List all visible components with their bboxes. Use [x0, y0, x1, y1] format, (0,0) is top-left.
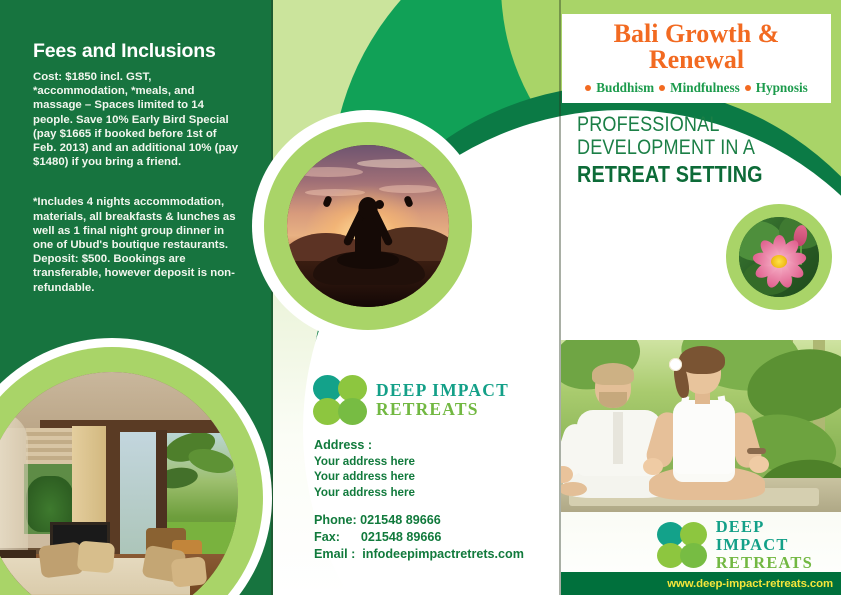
- venue-block: Vision Villas Bali 29 March to 1 April 2…: [573, 228, 753, 284]
- tagline-retreat-setting: RETREAT SETTING: [577, 161, 792, 187]
- fees-paragraph-1: Cost: $1850 incl. GST, *accommodation, *…: [33, 70, 243, 169]
- brand-line-2: RETREATS: [716, 554, 841, 572]
- sunrise-meditation-photo: [287, 145, 449, 307]
- topic-mindfulness: Mindfulness: [670, 80, 740, 96]
- phone-line: Phone: 021548 89666: [314, 512, 524, 529]
- hero-circle: [252, 110, 484, 342]
- fees-paragraph-2: *Includes 4 nights accommodation, materi…: [33, 195, 243, 294]
- fees-heading: Fees and Inclusions: [33, 40, 243, 63]
- tagline-line-1: PROFESSIONAL: [577, 113, 792, 136]
- tagline-block: PROFESSIONAL DEVELOPMENT IN A RETREAT SE…: [577, 113, 827, 187]
- website-bar: www.deep-impact-retreats.com: [561, 572, 841, 595]
- tagline-line-2: DEVELOPMENT IN A: [577, 136, 792, 159]
- fees-section: Fees and Inclusions Cost: $1850 incl. GS…: [33, 40, 243, 295]
- topic-list: Buddhism Mindfulness Hypnosis: [585, 80, 808, 96]
- meditating-woman: [647, 350, 767, 500]
- bullet-dot-icon: [585, 85, 591, 91]
- topic-buddhism: Buddhism: [596, 80, 654, 96]
- address-label: Address :: [314, 438, 524, 454]
- brand-logo-right: DEEP IMPACT RETREATS: [657, 518, 841, 571]
- email-line[interactable]: Email : infodeepimpactretrets.com: [314, 546, 524, 563]
- brand-line-1: DEEP IMPACT: [376, 381, 509, 400]
- brand-line-2: RETREATS: [376, 400, 509, 419]
- brand-logo-middle: DEEP IMPACT RETREATS: [313, 375, 509, 425]
- address-line-3: Your address here: [314, 485, 524, 501]
- venue-date-line-2: 1 April 2013: [581, 267, 753, 284]
- lotus-bloom: [749, 240, 809, 284]
- bullet-dot-icon: [745, 85, 751, 91]
- brand-wordmark: DEEP IMPACT RETREATS: [716, 518, 841, 571]
- contact-details: Phone: 021548 89666 Fax: 021548 89666 Em…: [314, 512, 524, 563]
- topic-hypnosis: Hypnosis: [756, 80, 808, 96]
- brochure-page: Fees and Inclusions Cost: $1850 incl. GS…: [0, 0, 841, 595]
- hair-flower-icon: [669, 358, 682, 371]
- meditation-photo: [561, 340, 841, 512]
- venue-name: Vision Villas Bali: [573, 228, 753, 245]
- bullet-dot-icon: [659, 85, 665, 91]
- villa-photo: [0, 372, 238, 595]
- title-line-1: Bali Growth &: [614, 21, 780, 47]
- website-url[interactable]: www.deep-impact-retreats.com: [667, 578, 833, 590]
- brand-wordmark: DEEP IMPACT RETREATS: [376, 381, 509, 419]
- brand-line-1: DEEP IMPACT: [716, 518, 841, 554]
- title-card: Bali Growth & Renewal Buddhism Mindfulne…: [562, 14, 831, 103]
- four-petal-clover-icon: [313, 375, 367, 425]
- contact-block: Address : Your address here Your address…: [314, 438, 524, 563]
- address-line-1: Your address here: [314, 454, 524, 470]
- address-line-2: Your address here: [314, 469, 524, 485]
- venue-date-line-1: 29 March to: [587, 249, 753, 266]
- four-petal-clover-icon: [657, 522, 707, 568]
- title-line-2: Renewal: [649, 47, 744, 73]
- villa-circle: [0, 338, 272, 595]
- fax-line: Fax: 021548 89666: [314, 529, 524, 546]
